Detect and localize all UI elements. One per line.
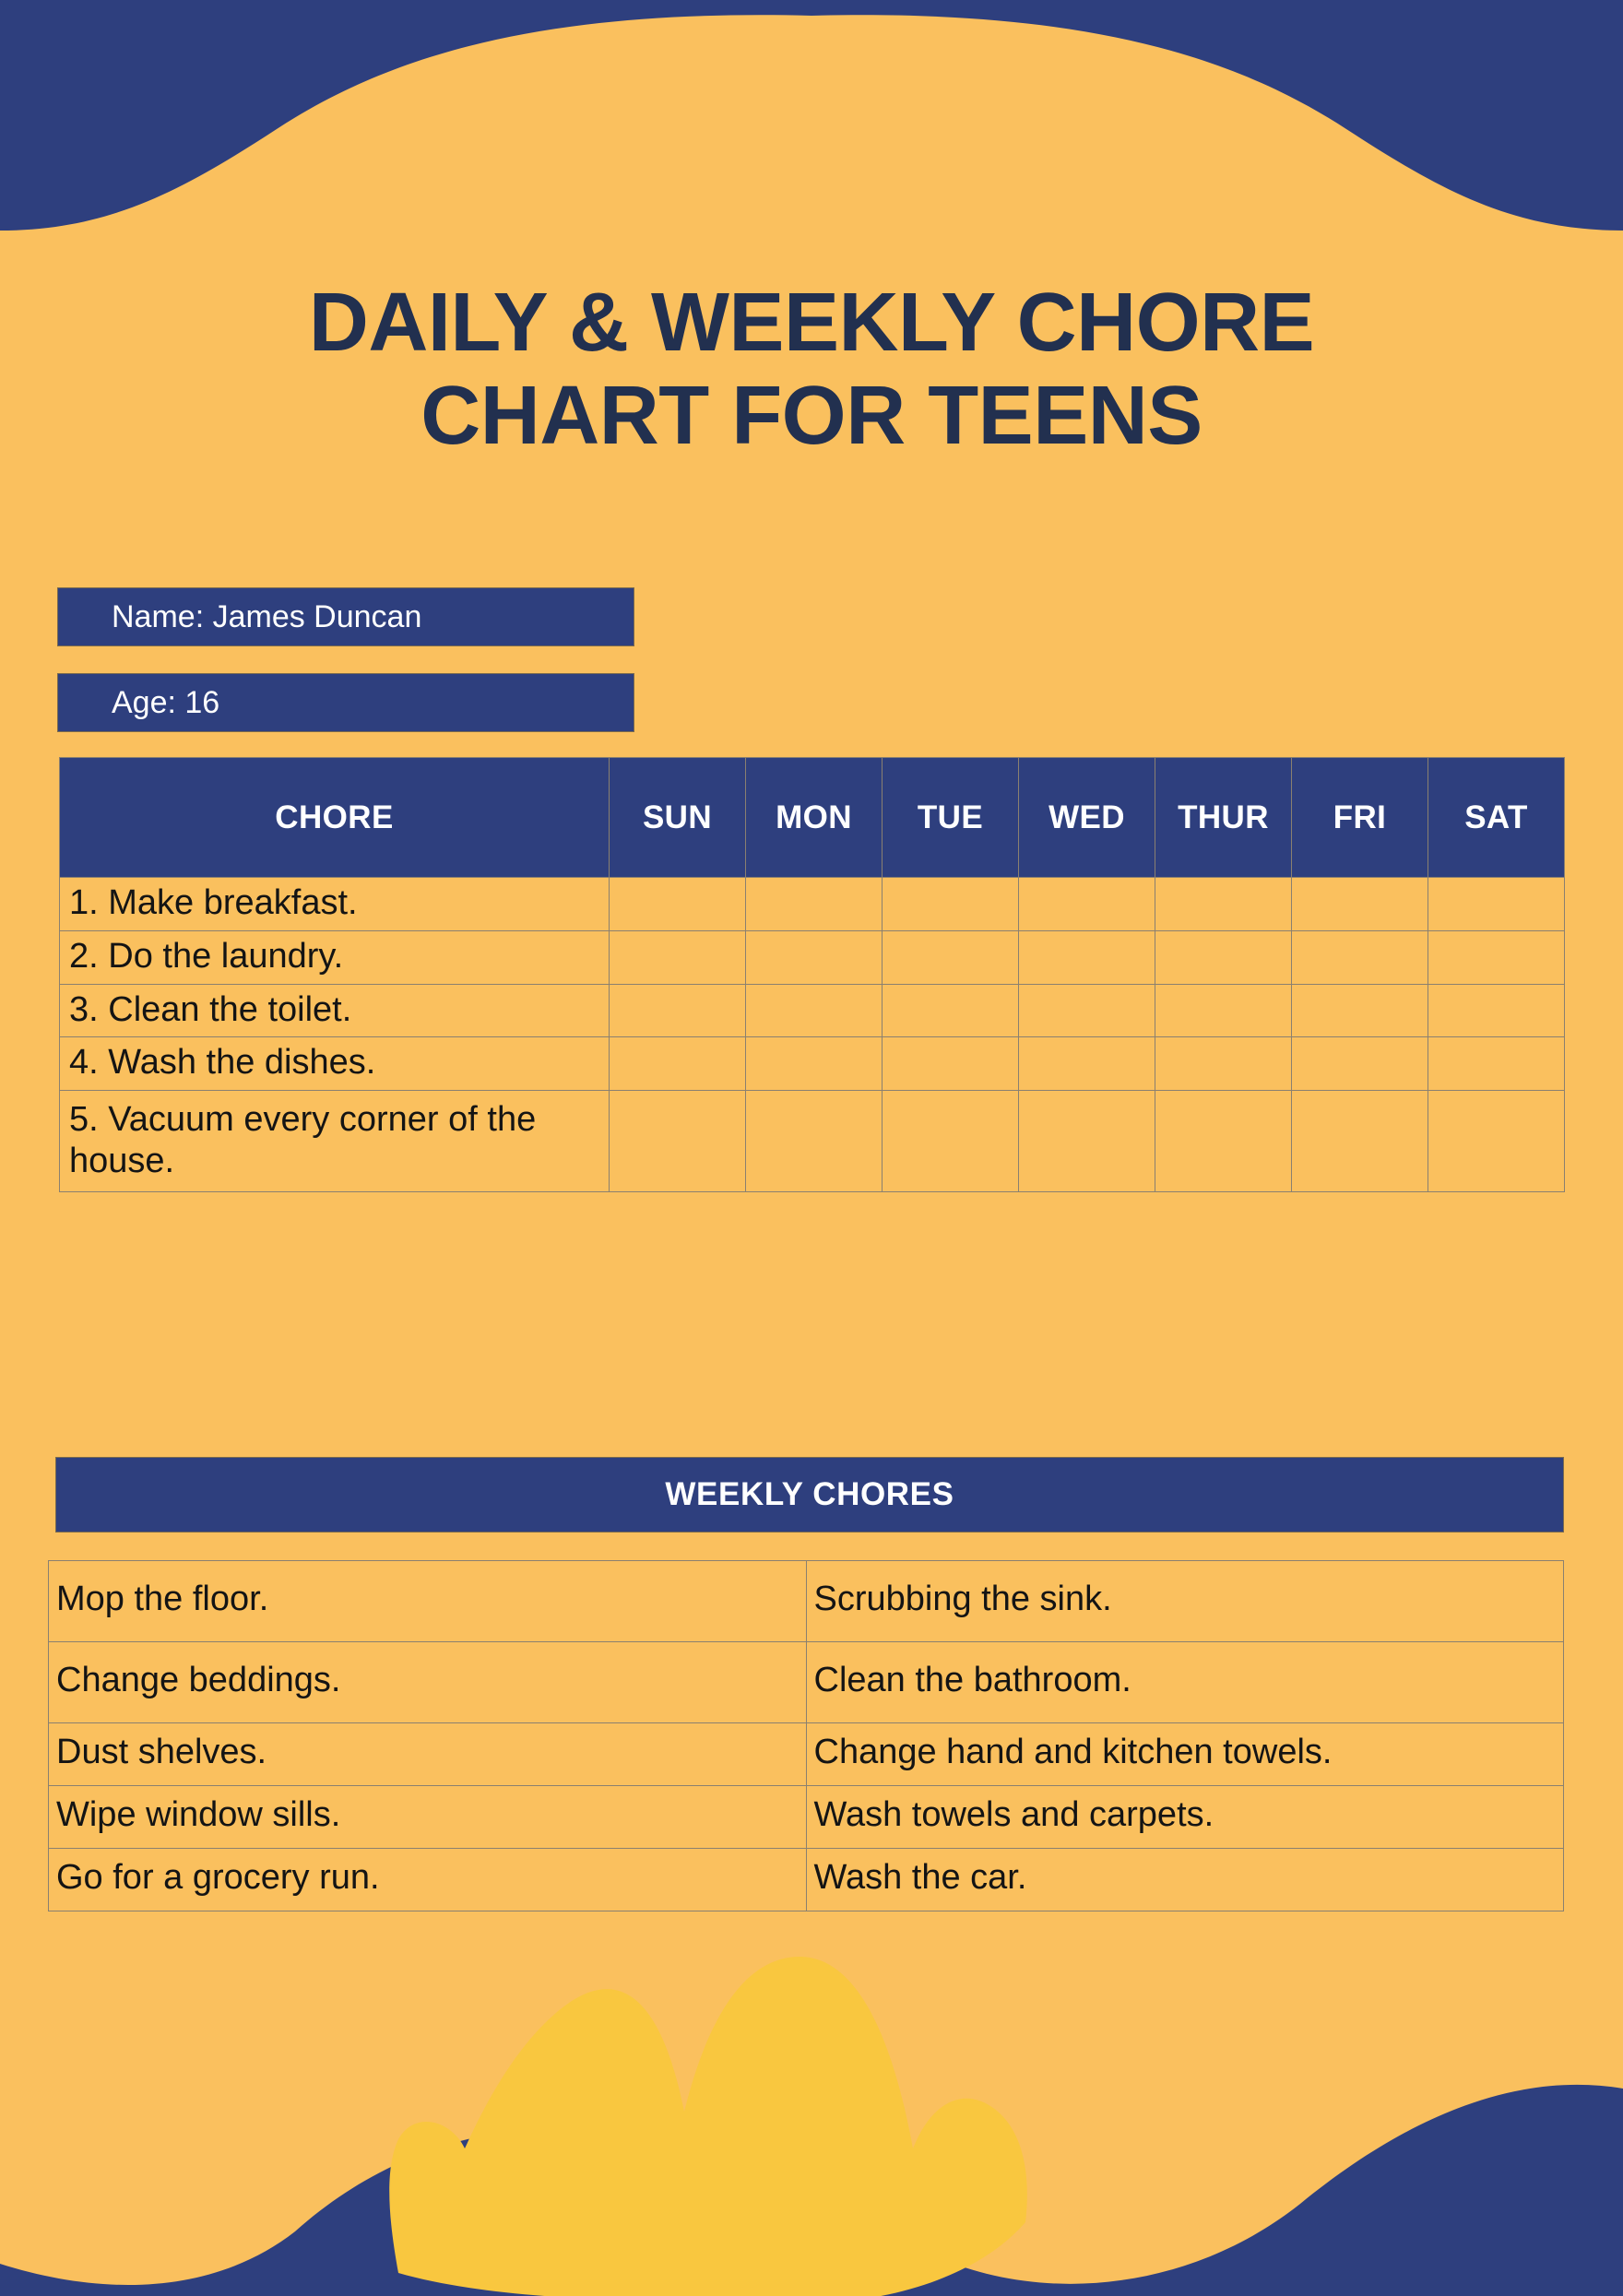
weekly-chore-right[interactable]: Clean the bathroom. xyxy=(806,1642,1564,1723)
column-header-sat: SAT xyxy=(1428,758,1565,878)
checkbox-cell-fri[interactable] xyxy=(1292,930,1428,984)
weekly-chores-header: WEEKLY CHORES xyxy=(55,1457,1564,1533)
column-header-thur: THUR xyxy=(1155,758,1292,878)
weekly-table-body: Mop the floor. Scrubbing the sink. Chang… xyxy=(49,1561,1564,1911)
weekly-chore-right[interactable]: Wash towels and carpets. xyxy=(806,1786,1564,1849)
checkbox-cell-fri[interactable] xyxy=(1292,878,1428,931)
daily-chore-table: CHORE SUN MON TUE WED THUR FRI SAT 1. Ma… xyxy=(59,757,1565,1192)
column-header-sun: SUN xyxy=(610,758,746,878)
table-row: Wipe window sills. Wash towels and carpe… xyxy=(49,1786,1564,1849)
column-header-wed: WED xyxy=(1019,758,1155,878)
checkbox-cell-tue[interactable] xyxy=(883,984,1019,1037)
checkbox-cell-sun[interactable] xyxy=(610,878,746,931)
weekly-chore-left[interactable]: Change beddings. xyxy=(49,1642,807,1723)
checkbox-cell-fri[interactable] xyxy=(1292,1091,1428,1192)
table-row: Change beddings. Clean the bathroom. xyxy=(49,1642,1564,1723)
weekly-chore-left[interactable]: Wipe window sills. xyxy=(49,1786,807,1849)
chore-label: 3. Clean the toilet. xyxy=(60,984,610,1037)
checkbox-cell-thur[interactable] xyxy=(1155,984,1292,1037)
table-row: 2. Do the laundry. xyxy=(60,930,1565,984)
checkbox-cell-wed[interactable] xyxy=(1019,1037,1155,1091)
weekly-chore-left[interactable]: Mop the floor. xyxy=(49,1561,807,1642)
daily-table-head: CHORE SUN MON TUE WED THUR FRI SAT xyxy=(60,758,1565,878)
column-header-tue: TUE xyxy=(883,758,1019,878)
checkbox-cell-thur[interactable] xyxy=(1155,878,1292,931)
table-row: 5. Vacuum every corner of the house. xyxy=(60,1091,1565,1192)
weekly-chore-right[interactable]: Change hand and kitchen towels. xyxy=(806,1723,1564,1786)
checkbox-cell-mon[interactable] xyxy=(746,930,883,984)
weekly-chore-right[interactable]: Wash the car. xyxy=(806,1849,1564,1911)
checkbox-cell-mon[interactable] xyxy=(746,1091,883,1192)
name-field[interactable]: Name: James Duncan xyxy=(57,587,634,646)
weekly-chore-right[interactable]: Scrubbing the sink. xyxy=(806,1561,1564,1642)
checkbox-cell-wed[interactable] xyxy=(1019,878,1155,931)
checkbox-cell-sat[interactable] xyxy=(1428,1091,1565,1192)
age-field[interactable]: Age: 16 xyxy=(57,673,634,732)
page-title: DAILY & WEEKLY CHORE CHART FOR TEENS xyxy=(0,277,1623,463)
checkbox-cell-sat[interactable] xyxy=(1428,984,1565,1037)
chore-label: 1. Make breakfast. xyxy=(60,878,610,931)
chore-label: 2. Do the laundry. xyxy=(60,930,610,984)
weekly-chore-table: Mop the floor. Scrubbing the sink. Chang… xyxy=(48,1560,1564,1911)
checkbox-cell-fri[interactable] xyxy=(1292,984,1428,1037)
table-row: 4. Wash the dishes. xyxy=(60,1037,1565,1091)
weekly-chore-left[interactable]: Go for a grocery run. xyxy=(49,1849,807,1911)
checkbox-cell-mon[interactable] xyxy=(746,984,883,1037)
checkbox-cell-tue[interactable] xyxy=(883,930,1019,984)
column-header-chore: CHORE xyxy=(60,758,610,878)
chore-label: 5. Vacuum every corner of the house. xyxy=(60,1091,610,1192)
checkbox-cell-sat[interactable] xyxy=(1428,1037,1565,1091)
table-row: Mop the floor. Scrubbing the sink. xyxy=(49,1561,1564,1642)
checkbox-cell-sat[interactable] xyxy=(1428,878,1565,931)
table-row: Dust shelves. Change hand and kitchen to… xyxy=(49,1723,1564,1786)
column-header-mon: MON xyxy=(746,758,883,878)
checkbox-cell-sun[interactable] xyxy=(610,930,746,984)
checkbox-cell-sun[interactable] xyxy=(610,1091,746,1192)
checkbox-cell-wed[interactable] xyxy=(1019,930,1155,984)
table-row: 3. Clean the toilet. xyxy=(60,984,1565,1037)
checkbox-cell-thur[interactable] xyxy=(1155,1037,1292,1091)
checkbox-cell-wed[interactable] xyxy=(1019,984,1155,1037)
checkbox-cell-sat[interactable] xyxy=(1428,930,1565,984)
table-row: 1. Make breakfast. xyxy=(60,878,1565,931)
checkbox-cell-sun[interactable] xyxy=(610,1037,746,1091)
checkbox-cell-tue[interactable] xyxy=(883,1091,1019,1192)
daily-table-body: 1. Make breakfast. 2. Do the laundry. xyxy=(60,878,1565,1192)
checkbox-cell-tue[interactable] xyxy=(883,878,1019,931)
checkbox-cell-wed[interactable] xyxy=(1019,1091,1155,1192)
checkbox-cell-thur[interactable] xyxy=(1155,1091,1292,1192)
checkbox-cell-mon[interactable] xyxy=(746,878,883,931)
weekly-chore-left[interactable]: Dust shelves. xyxy=(49,1723,807,1786)
table-row: Go for a grocery run. Wash the car. xyxy=(49,1849,1564,1911)
checkbox-cell-sun[interactable] xyxy=(610,984,746,1037)
checkbox-cell-fri[interactable] xyxy=(1292,1037,1428,1091)
checkbox-cell-tue[interactable] xyxy=(883,1037,1019,1091)
checkbox-cell-thur[interactable] xyxy=(1155,930,1292,984)
chore-label: 4. Wash the dishes. xyxy=(60,1037,610,1091)
checkbox-cell-mon[interactable] xyxy=(746,1037,883,1091)
daily-table-header-row: CHORE SUN MON TUE WED THUR FRI SAT xyxy=(60,758,1565,878)
column-header-fri: FRI xyxy=(1292,758,1428,878)
